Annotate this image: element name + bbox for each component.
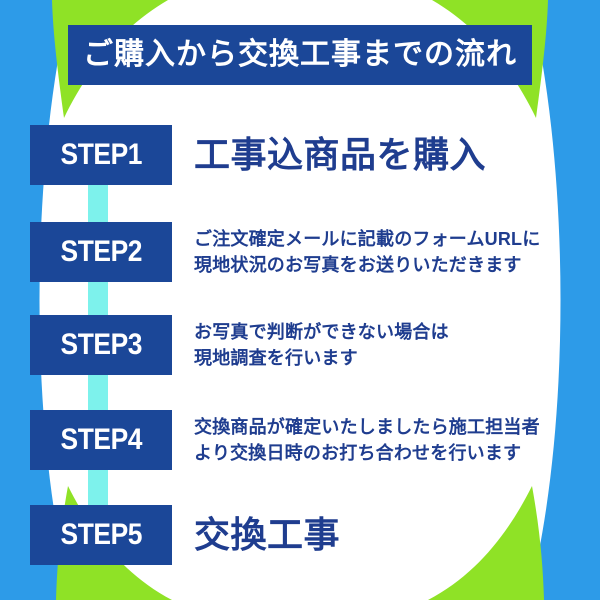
step-badge-3: STEP3 xyxy=(30,315,172,375)
step-row: STEP3 お写真で判断ができない場合は 現地調査を行います xyxy=(30,315,570,375)
step-badge-label: STEP2 xyxy=(60,237,141,267)
step-description-line: 交換工事 xyxy=(194,515,570,555)
step-row: STEP1 工事込商品を購入 xyxy=(30,125,570,185)
step-description-line: 現地状況のお写真をお送りいただきます xyxy=(194,252,570,278)
step-row: STEP5 交換工事 xyxy=(30,505,570,565)
step-description-line: より交換日時のお打ち合わせを行います xyxy=(194,440,570,466)
step-badge-label: STEP4 xyxy=(60,425,141,455)
step-description-2: ご注文確定メールに記載のフォームURLに 現地状況のお写真をお送りいただきます xyxy=(172,226,570,278)
step-badge-1: STEP1 xyxy=(30,125,172,185)
step-badge-label: STEP3 xyxy=(60,330,141,360)
step-description-1: 工事込商品を購入 xyxy=(172,135,570,175)
step-description-line: 交換商品が確定いたしましたら施工担当者 xyxy=(194,414,570,440)
step-badge-label: STEP1 xyxy=(60,140,141,170)
step-description-line: 工事込商品を購入 xyxy=(194,135,570,175)
step-badge-4: STEP4 xyxy=(30,410,172,470)
promo-poster: ご購入から交換工事までの流れ STEP1 工事込商品を購入 STEP2 ご注文確… xyxy=(0,0,600,600)
step-badge-label: STEP5 xyxy=(60,520,141,550)
step-description-3: お写真で判断ができない場合は 現地調査を行います xyxy=(172,319,570,371)
step-row: STEP2 ご注文確定メールに記載のフォームURLに 現地状況のお写真をお送りい… xyxy=(30,222,570,282)
step-description-line: ご注文確定メールに記載のフォームURLに xyxy=(194,226,570,252)
step-badge-2: STEP2 xyxy=(30,222,172,282)
step-description-line: お写真で判断ができない場合は xyxy=(194,319,570,345)
step-description-4: 交換商品が確定いたしましたら施工担当者 より交換日時のお打ち合わせを行います xyxy=(172,414,570,466)
steps-list: STEP1 工事込商品を購入 STEP2 ご注文確定メールに記載のフォームURL… xyxy=(0,0,600,600)
step-description-5: 交換工事 xyxy=(172,515,570,555)
step-row: STEP4 交換商品が確定いたしましたら施工担当者 より交換日時のお打ち合わせを… xyxy=(30,410,570,470)
step-description-line: 現地調査を行います xyxy=(194,345,570,371)
step-badge-5: STEP5 xyxy=(30,505,172,565)
